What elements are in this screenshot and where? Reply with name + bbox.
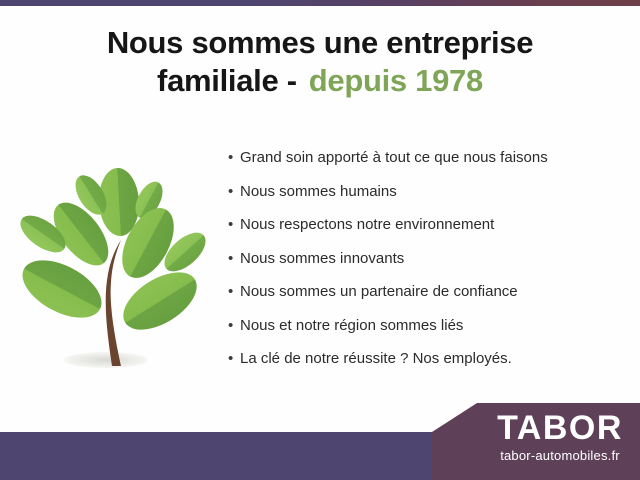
list-item-label: Nous sommes un partenaire de confiance <box>240 282 518 301</box>
logo-website: tabor-automobiles.fr <box>485 447 635 464</box>
bullet-icon: • <box>228 349 240 368</box>
list-item: • Grand soin apporté à tout ce que nous … <box>228 148 628 167</box>
bullet-icon: • <box>228 148 240 167</box>
title-accent-text: depuis 1978 <box>309 63 483 98</box>
bullet-icon: • <box>228 282 240 301</box>
bullet-icon: • <box>228 215 240 234</box>
list-item-label: Nous sommes humains <box>240 182 397 201</box>
list-item: • Nous et notre région sommes liés <box>228 316 628 335</box>
list-item-label: La clé de notre réussite ? Nos employés. <box>240 349 512 368</box>
top-accent-bar <box>0 0 640 6</box>
list-item: • Nous sommes innovants <box>228 249 628 268</box>
slide-root: Nous sommes une entreprise familiale -de… <box>0 0 640 480</box>
tree-leaves <box>13 167 212 341</box>
list-item-label: Nous et notre région sommes liés <box>240 316 463 335</box>
bullet-icon: • <box>228 249 240 268</box>
value-proposition-list: • Grand soin apporté à tout ce que nous … <box>228 148 628 383</box>
logo-wordmark: TABOR <box>485 410 635 446</box>
list-item: • Nous sommes un partenaire de confiance <box>228 282 628 301</box>
ground-shadow <box>64 352 148 368</box>
list-item: • Nous respectons notre environnement <box>228 215 628 234</box>
title-line-1: Nous sommes une entreprise <box>0 24 640 62</box>
list-item: • Nous sommes humains <box>228 182 628 201</box>
tree-trunk <box>106 240 121 366</box>
list-item-label: Nous respectons notre environnement <box>240 215 494 234</box>
tree-svg <box>8 148 223 388</box>
title-plain-text: familiale - <box>157 63 297 98</box>
page-title: Nous sommes une entreprise familiale -de… <box>0 24 640 100</box>
tabor-logo[interactable]: TABOR tabor-automobiles.fr <box>485 410 635 464</box>
list-item: • La clé de notre réussite ? Nos employé… <box>228 349 628 368</box>
list-item-label: Nous sommes innovants <box>240 249 404 268</box>
list-item-label: Grand soin apporté à tout ce que nous fa… <box>240 148 548 167</box>
bullet-icon: • <box>228 182 240 201</box>
bullet-icon: • <box>228 316 240 335</box>
tree-illustration <box>8 148 223 388</box>
title-line-2: familiale -depuis 1978 <box>0 62 640 100</box>
